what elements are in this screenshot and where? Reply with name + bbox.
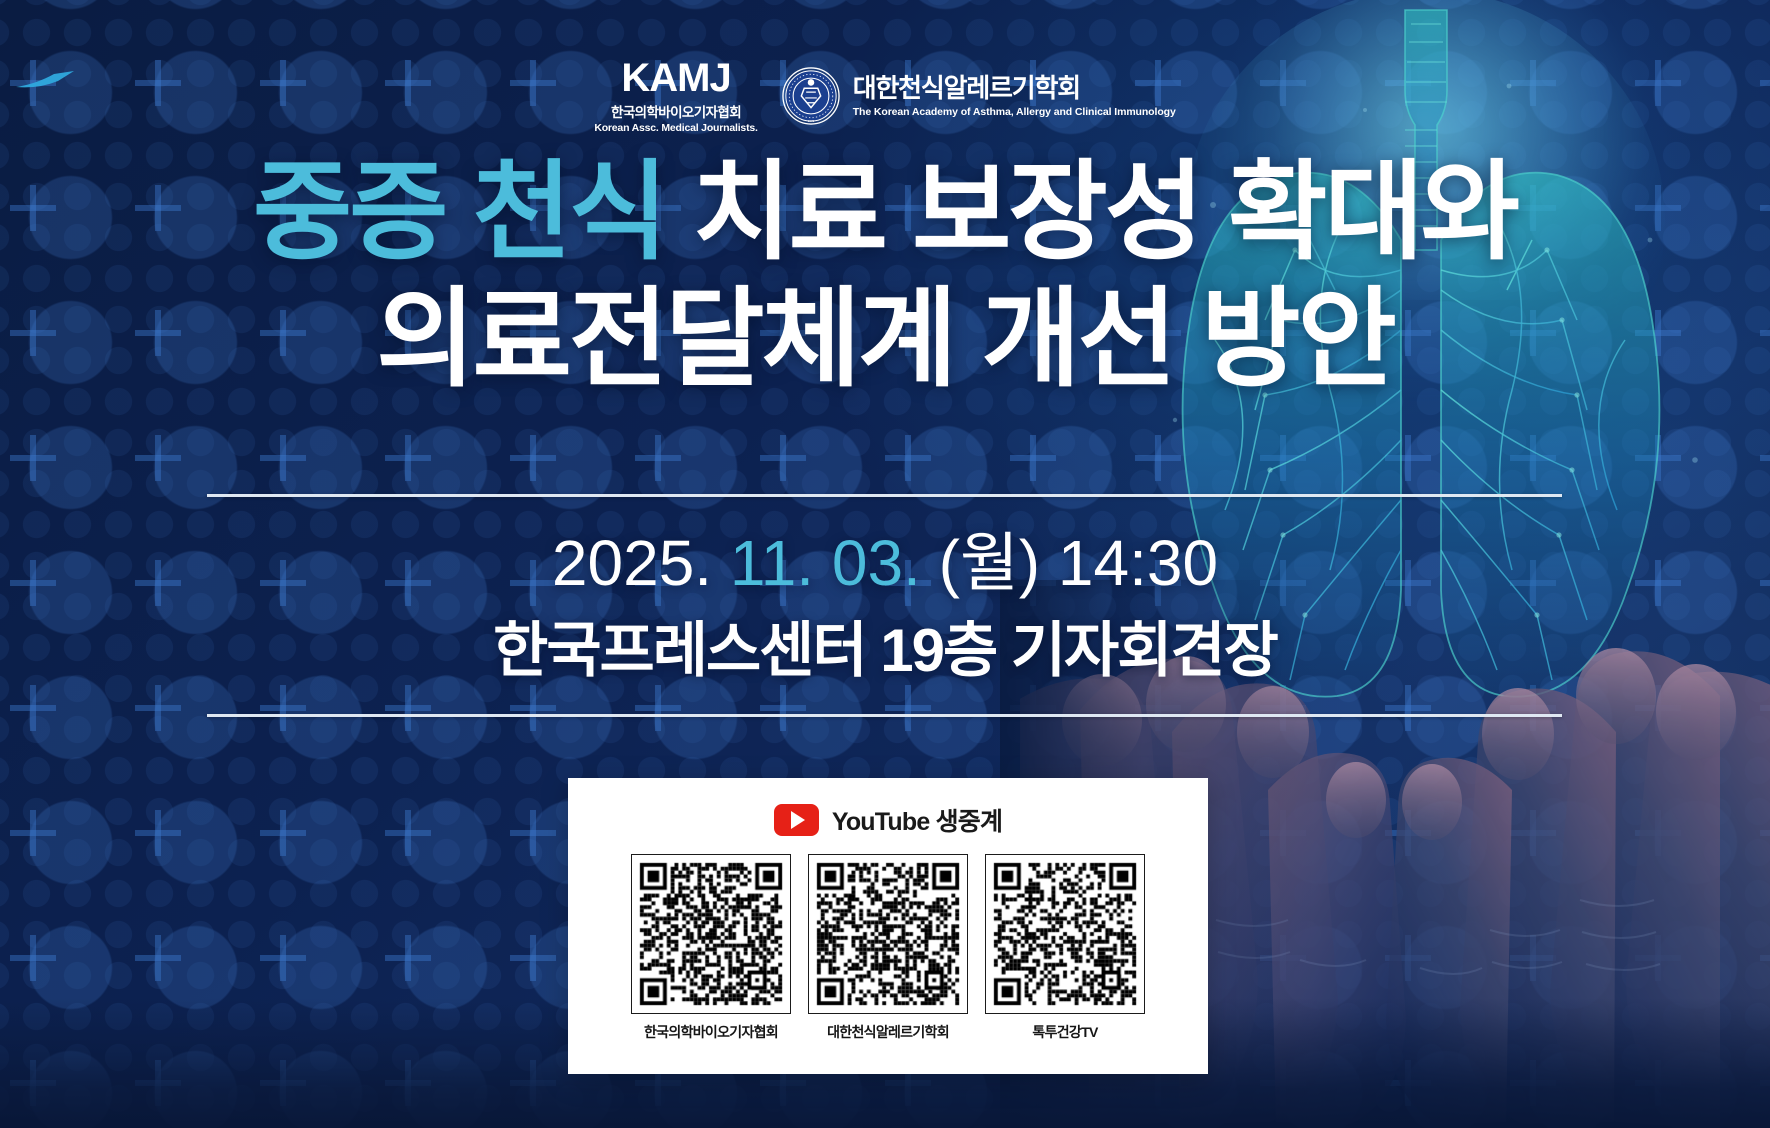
- plus-mark-icon: [385, 1060, 431, 1106]
- qr-code-icon[interactable]: [985, 854, 1145, 1014]
- plus-mark-icon: [10, 435, 56, 481]
- plus-mark-icon: [635, 685, 681, 731]
- qr-code-icon[interactable]: [631, 854, 791, 1014]
- plus-mark-icon: [885, 435, 931, 481]
- title-line-1: 중증 천식 치료 보장성 확대와: [0, 148, 1770, 275]
- title-line1-rest: 치료 보장성 확대와: [665, 151, 1517, 272]
- kaaaci-name-en: The Korean Academy of Asthma, Allergy an…: [853, 106, 1176, 118]
- plus-mark-icon: [135, 435, 181, 481]
- plus-mark-icon: [135, 810, 181, 856]
- plus-mark-icon: [10, 810, 56, 856]
- plus-mark-icon: [260, 810, 306, 856]
- plus-mark-icon: [135, 1060, 181, 1106]
- qr-label-1: 대한천식알레르기학회: [827, 1022, 949, 1042]
- divider-bottom: [207, 714, 1562, 717]
- plus-mark-icon: [10, 1060, 56, 1106]
- plus-mark-icon: [510, 1060, 556, 1106]
- plus-mark-icon: [385, 935, 431, 981]
- plus-mark-icon: [385, 435, 431, 481]
- swoosh-icon: [14, 70, 76, 90]
- kamj-name-kr: 한국의학바이오기자협회: [611, 101, 741, 121]
- kamj-wordmark: KAMJ: [621, 58, 730, 98]
- date-year: 2025.: [552, 527, 730, 599]
- kamj-logo: KAMJ 한국의학바이오기자협회 Korean Assc. Medical Jo…: [594, 58, 757, 134]
- plus-mark-icon: [10, 685, 56, 731]
- plus-mark-icon: [260, 685, 306, 731]
- qr-cell-1[interactable]: 대한천식알레르기학회: [807, 854, 969, 1042]
- youtube-live-row: YouTube 생중계: [568, 802, 1208, 838]
- plus-mark-icon: [135, 685, 181, 731]
- plus-mark-icon: [135, 935, 181, 981]
- kamj-name-en: Korean Assc. Medical Journalists.: [594, 122, 757, 134]
- plus-mark-icon: [260, 935, 306, 981]
- qr-label-2: 톡투건강TV: [1032, 1022, 1097, 1042]
- qr-label-0: 한국의학바이오기자협회: [644, 1022, 778, 1042]
- logo-row: KAMJ 한국의학바이오기자협회 Korean Assc. Medical Jo…: [0, 58, 1770, 134]
- academy-seal-icon: 1975: [782, 67, 840, 125]
- plus-mark-icon: [510, 810, 556, 856]
- poster-canvas: KAMJ 한국의학바이오기자협회 Korean Assc. Medical Jo…: [0, 0, 1770, 1128]
- kaaaci-name-kr: 대한천식알레르기학회: [853, 74, 1176, 103]
- title-line-2: 의료전달체계 개선 방안: [0, 275, 1770, 402]
- play-triangle-icon: [791, 811, 805, 829]
- page-title: 중증 천식 치료 보장성 확대와 의료전달체계 개선 방안: [0, 148, 1770, 403]
- plus-mark-icon: [885, 685, 931, 731]
- svg-text:1975: 1975: [808, 119, 815, 123]
- event-venue: 한국프레스센터 19층 기자회견장: [0, 602, 1770, 689]
- plus-mark-icon: [1010, 435, 1056, 481]
- plus-mark-icon: [260, 1060, 306, 1106]
- plus-mark-icon: [635, 435, 681, 481]
- plus-mark-icon: [510, 685, 556, 731]
- qr-code-icon[interactable]: [808, 854, 968, 1014]
- plus-mark-icon: [760, 685, 806, 731]
- date-rest: (월) 14:30: [921, 527, 1218, 599]
- kaaaci-text: 대한천식알레르기학회 The Korean Academy of Asthma,…: [853, 74, 1176, 118]
- plus-mark-icon: [10, 935, 56, 981]
- divider-top: [207, 494, 1562, 497]
- plus-mark-icon: [1760, 435, 1770, 481]
- date-accent: 11. 03.: [730, 527, 921, 599]
- qr-cell-0[interactable]: 한국의학바이오기자협회: [630, 854, 792, 1042]
- plus-mark-icon: [260, 435, 306, 481]
- kaaaci-logo: 1975 대한천식알레르기학회 The Korean Academy of As…: [782, 67, 1176, 125]
- plus-mark-icon: [385, 810, 431, 856]
- event-datetime: 2025. 11. 03. (월) 14:30: [0, 512, 1770, 604]
- youtube-play-icon: [774, 804, 819, 836]
- plus-mark-icon: [510, 935, 556, 981]
- broadcast-panel: YouTube 생중계 한국의학바이오기자협회 대한천식알레르기학회 톡투건강T…: [568, 778, 1208, 1074]
- plus-mark-icon: [510, 435, 556, 481]
- plus-mark-icon: [385, 685, 431, 731]
- qr-cell-2[interactable]: 톡투건강TV: [984, 854, 1146, 1042]
- youtube-live-label: YouTube 생중계: [832, 802, 1002, 838]
- qr-code-row: 한국의학바이오기자협회 대한천식알레르기학회 톡투건강TV: [568, 854, 1208, 1042]
- plus-mark-icon: [760, 435, 806, 481]
- title-accent-text: 중증 천식: [253, 151, 665, 272]
